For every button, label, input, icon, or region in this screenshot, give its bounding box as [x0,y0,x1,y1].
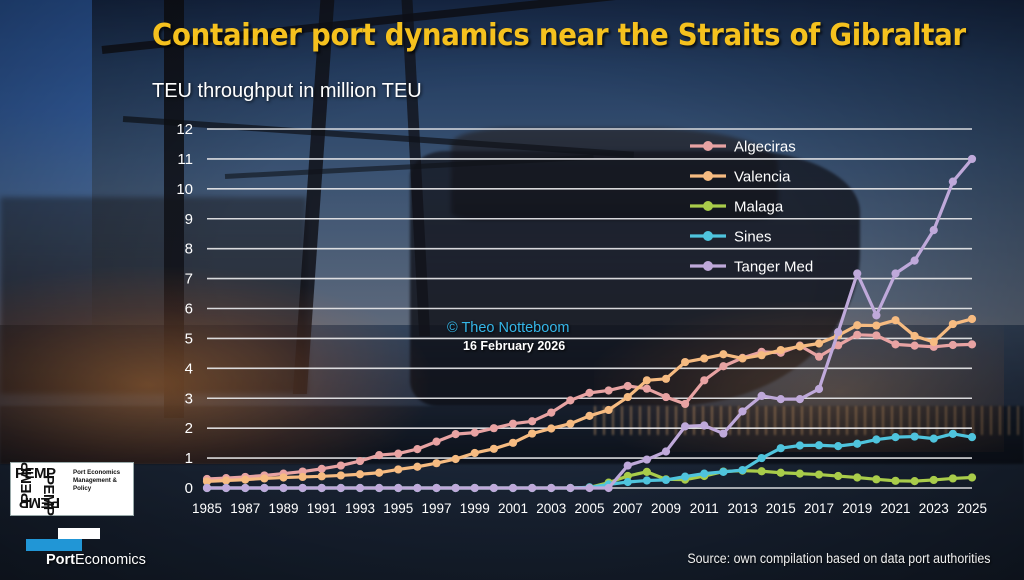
x-axis-tick-label: 1997 [421,501,451,516]
data-point [643,476,651,484]
data-point [413,484,421,492]
data-point [891,477,899,485]
legend-item-sines[interactable]: Sines [690,229,772,246]
brand-bold: Port [46,552,75,568]
x-axis-tick-label: 2015 [766,501,796,516]
data-point [662,476,670,484]
data-point [777,395,785,403]
data-point [700,470,708,478]
data-point [872,311,880,319]
data-point [394,465,402,473]
data-point [872,331,880,339]
data-point [738,354,746,362]
source-note: Source: own compilation based on data po… [687,551,990,566]
data-point [949,341,957,349]
data-point [796,342,804,350]
data-point [911,257,919,265]
x-axis-tick-label: 2007 [613,501,643,516]
data-point [891,340,899,348]
data-point [432,459,440,467]
data-point [681,473,689,481]
data-point [662,447,670,455]
legend-swatch-marker [703,201,713,211]
x-axis-tick-label: 2025 [957,501,987,516]
data-point [719,362,727,370]
brand-rest: Economics [75,552,146,568]
data-point [758,467,766,475]
legend-item-malaga[interactable]: Malaga [690,199,784,216]
data-point [356,470,364,478]
data-point [394,449,402,457]
data-point [700,376,708,384]
data-point [203,484,211,492]
data-point [337,471,345,479]
legend-item-algeciras[interactable]: Algeciras [690,139,796,156]
data-point [375,451,383,459]
data-point [566,420,574,428]
legend-item-tanger-med[interactable]: Tanger Med [690,259,813,276]
data-point [605,484,613,492]
legend-label: Algeciras [734,139,796,156]
data-point [796,470,804,478]
legend-label: Valencia [734,169,791,186]
data-point [872,321,880,329]
data-point [777,444,785,452]
data-point [968,155,976,163]
data-point [299,473,307,481]
x-axis-tick-label: 1993 [345,501,375,516]
y-axis-tick-label: 0 [185,480,193,497]
x-axis-tick-label: 1989 [268,501,298,516]
data-point [643,455,651,463]
line-chart: 0123456789101112198519871989199119931995… [0,0,1024,580]
data-point [796,395,804,403]
data-point [394,484,402,492]
watermark-date: 16 February 2026 [463,339,565,353]
data-point [643,376,651,384]
data-point [968,433,976,441]
data-point [777,346,785,354]
data-point [375,484,383,492]
x-axis-tick-label: 1995 [383,501,413,516]
data-point [547,424,555,432]
data-point [413,445,421,453]
data-point [585,484,593,492]
data-point [509,420,517,428]
data-point [949,320,957,328]
data-point [758,351,766,359]
y-axis-tick-label: 3 [185,390,193,407]
data-point [891,269,899,277]
data-point [528,417,536,425]
data-point [509,439,517,447]
data-point [260,474,268,482]
data-point [547,409,555,417]
porteconomics-logo[interactable]: PortEconomics [26,528,132,566]
data-point [432,438,440,446]
data-point [815,470,823,478]
data-point [356,457,364,465]
x-axis-tick-label: 2023 [919,501,949,516]
data-point [662,393,670,401]
data-point [509,484,517,492]
data-point [930,435,938,443]
data-point [834,442,842,450]
porteconomics-bar-white [58,528,100,539]
data-point [949,474,957,482]
data-point [318,484,326,492]
y-axis-tick-label: 12 [176,121,193,138]
data-point [968,473,976,481]
y-axis-tick-label: 8 [185,241,193,258]
data-point [279,484,287,492]
y-axis-tick-label: 9 [185,211,193,228]
data-point [241,484,249,492]
data-point [624,478,632,486]
data-point [930,476,938,484]
x-axis-tick-label: 2019 [842,501,872,516]
data-point [375,469,383,477]
data-point [853,269,861,277]
data-point [585,389,593,397]
legend-swatch-marker [703,231,713,241]
pemp-word-left: PEMP [19,462,34,503]
x-axis-tick-label: 2017 [804,501,834,516]
data-point [853,331,861,339]
slide-canvas: Container port dynamics near the Straits… [0,0,1024,580]
data-point [911,341,919,349]
data-point [643,468,651,476]
data-point [911,432,919,440]
data-point [585,412,593,420]
x-axis-tick-label: 1987 [230,501,260,516]
data-point [643,385,651,393]
data-point [490,424,498,432]
data-point [853,440,861,448]
data-point [834,328,842,336]
y-axis-tick-label: 2 [185,420,193,437]
data-point [337,461,345,469]
y-axis-tick-label: 5 [185,330,193,347]
data-point [432,484,440,492]
porteconomics-bar-blue [26,539,82,551]
data-point [490,484,498,492]
data-point [738,466,746,474]
data-point [891,433,899,441]
data-point [471,429,479,437]
data-point [719,350,727,358]
data-point [566,484,574,492]
porteconomics-wordmark: PortEconomics [46,552,146,568]
data-point [624,461,632,469]
series-valencia [203,315,976,486]
data-point [968,340,976,348]
data-point [260,484,268,492]
data-point [872,435,880,443]
y-axis-tick-label: 4 [185,360,193,377]
x-axis-tick-label: 1985 [192,501,222,516]
x-axis-tick-label: 1991 [307,501,337,516]
data-point [796,441,804,449]
legend-label: Sines [734,229,772,246]
data-point [815,353,823,361]
data-point [949,430,957,438]
legend-swatch-marker [703,141,713,151]
y-axis-tick-label: 7 [185,271,193,288]
x-axis-tick-label: 2013 [727,501,757,516]
data-point [930,338,938,346]
data-point [222,476,230,484]
data-point [815,385,823,393]
data-point [528,429,536,437]
data-point [758,454,766,462]
data-point [452,484,460,492]
data-point [911,332,919,340]
data-point [758,392,766,400]
data-point [528,484,536,492]
data-point [719,429,727,437]
data-point [930,226,938,234]
series-algeciras [203,331,976,483]
data-point [700,421,708,429]
data-point [815,441,823,449]
data-point [241,476,249,484]
data-point [911,477,919,485]
data-point [777,469,785,477]
data-point [605,386,613,394]
data-point [318,472,326,480]
pemp-logo: PEMP PEMP PEMP PEMP Port Economics Manag… [10,462,134,516]
legend-swatch-marker [703,261,713,271]
data-point [471,449,479,457]
data-point [547,484,555,492]
y-axis-tick-label: 6 [185,301,193,318]
data-point [834,472,842,480]
legend-label: Tanger Med [734,259,813,276]
data-point [624,382,632,390]
x-axis-tick-label: 1999 [460,501,490,516]
data-point [605,406,613,414]
data-point [624,393,632,401]
series-sines [203,430,976,492]
data-point [891,316,899,324]
x-axis-tick-label: 2001 [498,501,528,516]
data-point [318,465,326,473]
data-point [719,468,727,476]
data-point [222,484,230,492]
data-point [356,484,364,492]
data-point [738,407,746,415]
x-axis-tick-label: 2003 [536,501,566,516]
data-point [815,339,823,347]
y-axis-tick-label: 10 [176,181,193,198]
x-axis-tick-label: 2011 [690,501,719,516]
y-axis-tick-label: 11 [177,151,193,168]
y-axis-tick-label: 1 [185,450,193,467]
legend-item-valencia[interactable]: Valencia [690,169,791,186]
data-point [337,484,345,492]
data-point [471,484,479,492]
data-point [413,463,421,471]
x-axis-tick-label: 2021 [880,501,910,516]
legend-label: Malaga [734,199,784,216]
legend-swatch-marker [703,171,713,181]
data-point [949,178,957,186]
data-point [700,354,708,362]
data-point [452,455,460,463]
data-point [681,358,689,366]
data-point [490,445,498,453]
data-point [279,473,287,481]
data-point [662,375,670,383]
pemp-caption: Port Economics Management & Policy [73,469,131,492]
data-point [872,475,880,483]
x-axis-tick-label: 2009 [651,501,681,516]
data-point [452,430,460,438]
data-point [853,473,861,481]
data-point [681,422,689,430]
watermark-author: © Theo Notteboom [447,320,569,336]
data-point [681,400,689,408]
pemp-wordmark: PEMP PEMP PEMP PEMP [15,466,71,512]
x-axis-tick-label: 2005 [574,501,604,516]
data-point [299,484,307,492]
series-line [207,319,972,481]
data-point [566,396,574,404]
data-point [853,321,861,329]
data-point [968,315,976,323]
